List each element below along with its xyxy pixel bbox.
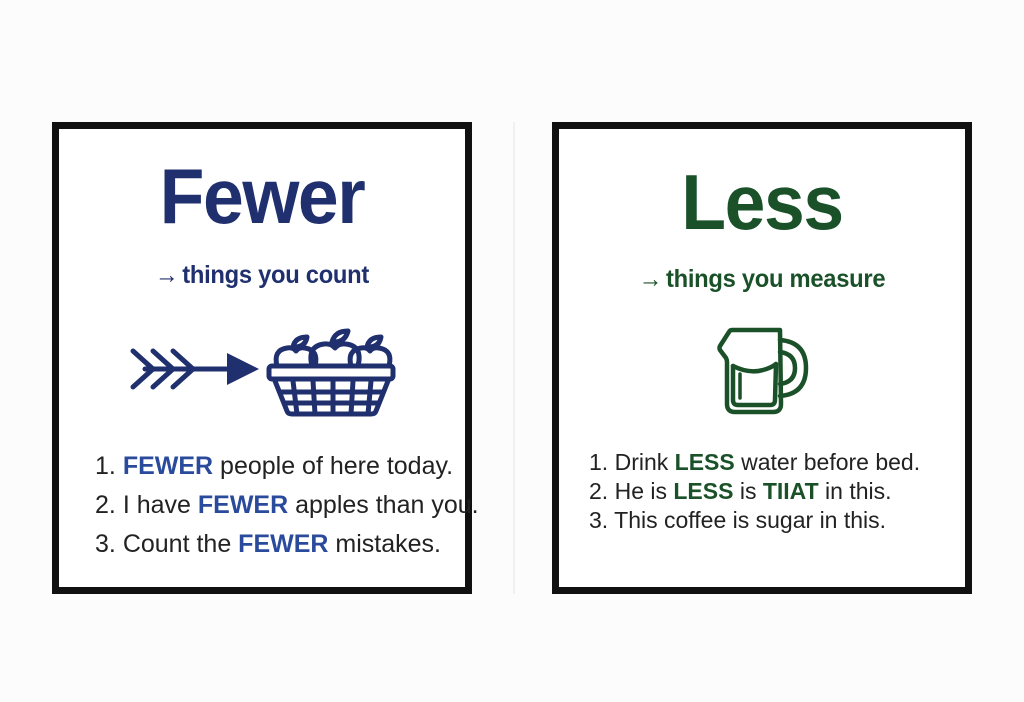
list-keyword: FEWER — [238, 530, 328, 558]
list-item: 1. FEWER people of here today. — [95, 447, 465, 486]
list-item: 3. This coffee is sugar in this. — [589, 506, 965, 535]
list-number: 3. — [589, 507, 608, 533]
list-item: 3. Count the FEWER mistakes. — [95, 525, 465, 564]
list-item: 2. I have FEWER apples than you. — [95, 486, 465, 525]
list-keyword: LESS — [675, 449, 735, 475]
card-less-subtitle: →things you measure — [569, 265, 955, 294]
card-fewer-illustration — [59, 312, 465, 417]
card-fewer: Fewer →things you count — [52, 122, 472, 594]
list-keyword: FEWER — [123, 452, 213, 480]
list-number: 3. — [95, 530, 116, 558]
arrow-and-apple-basket-icon — [127, 312, 397, 417]
list-text-mid: is — [733, 478, 762, 504]
card-fewer-examples: 1. FEWER people of here today. 2. I have… — [59, 447, 465, 564]
card-fewer-subtitle-text: things you count — [182, 261, 369, 289]
card-divider — [513, 122, 515, 594]
list-keyword: LESS — [673, 478, 733, 504]
list-number: 2. — [95, 491, 116, 519]
list-item: 2. He is LESS is TIIAT in this. — [589, 477, 965, 506]
list-number: 1. — [589, 449, 608, 475]
card-less-headline: Less — [571, 139, 953, 241]
list-number: 1. — [95, 452, 116, 480]
card-less-subtitle-text: things you measure — [666, 265, 885, 293]
comparison-board: Fewer →things you count — [0, 0, 1024, 702]
list-text-before: Count the — [123, 530, 238, 558]
list-text-after: mistakes. — [328, 530, 441, 558]
list-keyword: FEWER — [198, 491, 288, 519]
list-text-before: I have — [123, 491, 198, 519]
card-fewer-subtitle: →things you count — [69, 261, 455, 290]
list-text-before: This coffee is sugar in this. — [614, 507, 886, 533]
card-less-illustration — [559, 318, 965, 423]
list-text-after: water before bed. — [735, 449, 920, 475]
card-fewer-headline: Fewer — [71, 139, 453, 235]
right-arrow-icon: → — [639, 265, 662, 293]
list-text-after: in this. — [819, 478, 892, 504]
list-text-before: He is — [615, 478, 674, 504]
list-item: 1. Drink LESS water before bed. — [589, 448, 965, 477]
arrow-head — [227, 353, 259, 385]
list-text-after: people of here today. — [213, 452, 453, 480]
list-text-after: apples than you. — [288, 491, 478, 519]
list-keyword-secondary: TIIAT — [763, 478, 819, 504]
water-pitcher-icon — [702, 318, 822, 423]
card-less: Less →things you measure — [552, 122, 972, 594]
list-text-before: Drink — [615, 449, 675, 475]
right-arrow-icon: → — [155, 261, 178, 289]
card-less-examples: 1. Drink LESS water before bed. 2. He is… — [559, 448, 965, 535]
list-number: 2. — [589, 478, 608, 504]
